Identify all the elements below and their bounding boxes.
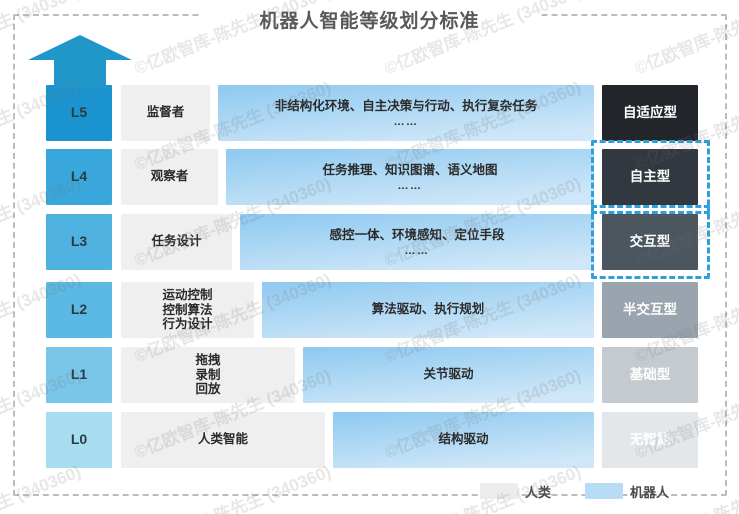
human-cell-l5[interactable]: 监督者 bbox=[121, 85, 210, 141]
human-cell-line: 行为设计 bbox=[162, 317, 212, 332]
robot-cell-ellipsis: …… bbox=[398, 182, 423, 191]
table-row: L5监督者非结构化环境、自主决策与行动、执行复杂任务……自适应型 bbox=[0, 85, 739, 141]
legend-item-human: 人类 bbox=[480, 482, 551, 501]
human-cell-line: 拖拽 bbox=[195, 353, 220, 368]
robot-cell-text: 结构驱动 bbox=[438, 432, 488, 448]
robot-cell-text: 任务推理、知识图谱、语义地图 bbox=[322, 163, 497, 179]
legend-label-robot: 机器人 bbox=[630, 482, 669, 501]
human-cell-l3[interactable]: 任务设计 bbox=[121, 214, 232, 270]
legend-swatch-robot bbox=[585, 483, 623, 499]
robot-cell-l3[interactable]: 感控一体、环境感知、定位手段…… bbox=[240, 214, 594, 270]
robot-cell-text: 算法驱动、执行规划 bbox=[372, 302, 485, 318]
type-cell-l4[interactable]: 自主型 bbox=[602, 149, 698, 205]
robot-cell-l1[interactable]: 关节驱动 bbox=[303, 347, 594, 403]
robot-cell-l0[interactable]: 结构驱动 bbox=[333, 412, 594, 468]
type-cell-l2[interactable]: 半交互型 bbox=[602, 282, 698, 338]
human-cell-l1[interactable]: 拖拽录制回放 bbox=[121, 347, 295, 403]
human-cell-l0[interactable]: 人类智能 bbox=[121, 412, 325, 468]
up-arrow-icon bbox=[28, 33, 132, 88]
table-row: L3任务设计感控一体、环境感知、定位手段……交互型 bbox=[0, 214, 739, 270]
human-cell-l2[interactable]: 运动控制控制算法行为设计 bbox=[121, 282, 254, 338]
robot-cell-l2[interactable]: 算法驱动、执行规划 bbox=[262, 282, 594, 338]
legend-item-robot: 机器人 bbox=[585, 482, 669, 501]
legend-label-human: 人类 bbox=[525, 482, 551, 501]
table-row: L2运动控制控制算法行为设计算法驱动、执行规划半交互型 bbox=[0, 282, 739, 338]
page-title: 机器人智能等级划分标准 bbox=[0, 6, 739, 33]
level-cell-l3[interactable]: L3 bbox=[46, 214, 112, 270]
type-cell-l1[interactable]: 基础型 bbox=[602, 347, 698, 403]
human-cell-line: 运动控制 bbox=[162, 288, 212, 303]
human-cell-l4[interactable]: 观察者 bbox=[121, 149, 218, 205]
human-cell-line: 控制算法 bbox=[162, 303, 212, 318]
robot-cell-l4[interactable]: 任务推理、知识图谱、语义地图…… bbox=[226, 149, 594, 205]
level-cell-l0[interactable]: L0 bbox=[46, 412, 112, 468]
level-cell-l4[interactable]: L4 bbox=[46, 149, 112, 205]
table-row: L4观察者任务推理、知识图谱、语义地图……自主型 bbox=[0, 149, 739, 205]
legend: 人类 机器人 bbox=[480, 478, 720, 504]
robot-cell-l5[interactable]: 非结构化环境、自主决策与行动、执行复杂任务…… bbox=[218, 85, 594, 141]
human-cell-line: 回放 bbox=[195, 382, 220, 397]
level-cell-l1[interactable]: L1 bbox=[46, 347, 112, 403]
table-row: L1拖拽录制回放关节驱动基础型 bbox=[0, 347, 739, 403]
robot-cell-text: 关节驱动 bbox=[423, 367, 473, 383]
level-cell-l5[interactable]: L5 bbox=[46, 85, 112, 141]
type-cell-l0[interactable]: 无智能 bbox=[602, 412, 698, 468]
infographic-root: 机器人智能等级划分标准 L5监督者非结构化环境、自主决策与行动、执行复杂任务……… bbox=[0, 0, 739, 514]
robot-cell-ellipsis: …… bbox=[394, 118, 419, 127]
robot-cell-ellipsis: …… bbox=[405, 247, 430, 256]
type-cell-l3[interactable]: 交互型 bbox=[602, 214, 698, 270]
type-cell-l5[interactable]: 自适应型 bbox=[602, 85, 698, 141]
human-cell-line: 录制 bbox=[195, 368, 220, 383]
table-row: L0人类智能结构驱动无智能 bbox=[0, 412, 739, 468]
robot-cell-text: 感控一体、环境感知、定位手段 bbox=[329, 228, 504, 244]
legend-swatch-human bbox=[480, 483, 518, 499]
level-cell-l2[interactable]: L2 bbox=[46, 282, 112, 338]
robot-cell-text: 非结构化环境、自主决策与行动、执行复杂任务 bbox=[275, 99, 538, 115]
